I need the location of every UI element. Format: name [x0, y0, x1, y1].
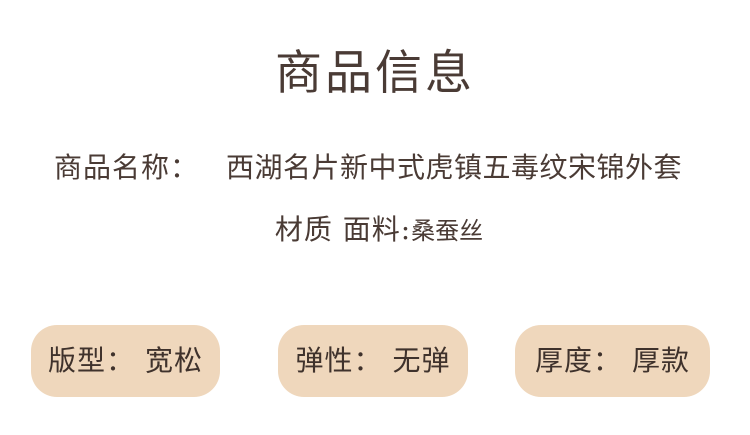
attribute-pill-group: 版型： 宽松 弹性： 无弹 厚度： 厚款 — [0, 325, 750, 397]
product-info-panel: 商品信息 商品名称： 西湖名片新中式虎镇五毒纹宋锦外套 材质 面料: 桑蚕丝 版… — [0, 0, 750, 435]
attribute-pill-fit-label: 版型： 宽松 — [48, 344, 203, 378]
material-value: 桑蚕丝 — [411, 211, 483, 251]
info-row-product-name: 商品名称： 西湖名片新中式虎镇五毒纹宋锦外套 — [0, 148, 750, 192]
attribute-pill-elasticity: 弹性： 无弹 — [278, 325, 468, 397]
material-label: 材质 面料: — [275, 210, 411, 250]
attribute-pill-elasticity-label: 弹性： 无弹 — [296, 344, 451, 378]
attribute-pill-fit: 版型： 宽松 — [31, 325, 220, 397]
page-title: 商品信息 — [0, 44, 750, 104]
product-name-label: 商品名称： — [54, 148, 199, 188]
product-name-value: 西湖名片新中式虎镇五毒纹宋锦外套 — [226, 148, 682, 188]
attribute-pill-thickness-label: 厚度： 厚款 — [535, 344, 690, 378]
attribute-pill-thickness: 厚度： 厚款 — [515, 325, 710, 397]
product-info-list: 商品名称： 西湖名片新中式虎镇五毒纹宋锦外套 材质 面料: 桑蚕丝 — [0, 148, 750, 254]
info-row-material: 材质 面料: 桑蚕丝 — [0, 210, 750, 254]
